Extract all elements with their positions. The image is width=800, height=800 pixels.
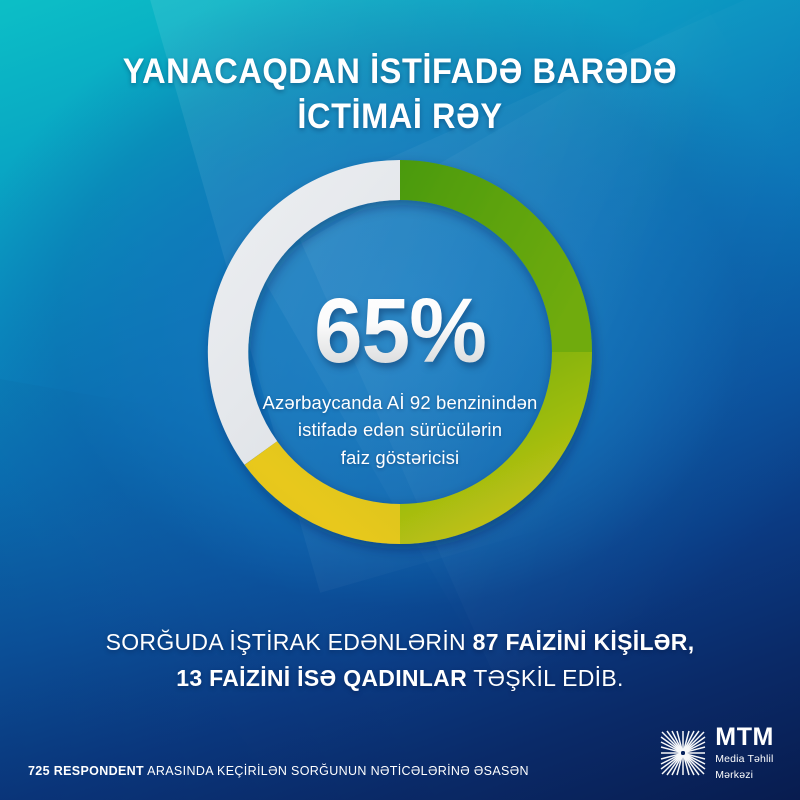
brand-acronym: MTM <box>715 725 774 750</box>
summary-statement-line-1: SORĞUDA İŞTİRAK EDƏNLƏRİN 87 FAİZİNİ KİŞ… <box>0 625 800 661</box>
page-title-line-1: YANACAQDAN İSTİFADƏ BARƏDƏ <box>28 50 772 95</box>
summary-suffix: TƏŞKİL EDİB. <box>467 665 624 691</box>
donut-caption-line-1: Azərbaycanda Aİ 92 benzinindən <box>230 389 570 416</box>
summary-men-percentage: 87 FAİZİNİ KİŞİLƏR, <box>473 629 695 655</box>
summary-statement-line-2: 13 FAİZİNİ İSƏ QADINLAR TƏŞKİL EDİB. <box>0 661 800 697</box>
page-title-line-2: İCTİMAİ RƏY <box>28 95 772 140</box>
source-note-text: ARASINDA KEÇİRİLƏN SORĞUNUN NƏTİCƏLƏRİNƏ… <box>144 764 529 778</box>
infographic-poster: YANACAQDAN İSTİFADƏ BARƏDƏ İCTİMAİ RƏY <box>0 0 800 800</box>
mtm-rays-icon <box>660 730 706 776</box>
source-note: 725 RESPONDENT ARASINDA KEÇİRİLƏN SORĞUN… <box>28 764 529 778</box>
donut-value: 65% <box>239 285 562 377</box>
donut-center-content: 65% Azərbaycanda Aİ 92 benzinindən istif… <box>230 285 570 471</box>
respondent-count: 725 RESPONDENT <box>28 764 144 778</box>
brand-subtitle-line-2: Mərkəzi <box>715 769 774 782</box>
page-title: YANACAQDAN İSTİFADƏ BARƏDƏ İCTİMAİ RƏY <box>28 50 772 140</box>
donut-caption-line-3: faiz göstəricisi <box>230 444 570 471</box>
summary-statement: SORĞUDA İŞTİRAK EDƏNLƏRİN 87 FAİZİNİ KİŞ… <box>0 625 800 696</box>
brand-logo-text: MTM Media Təhlil Mərkəzi <box>715 725 774 782</box>
donut-caption-line-2: istifadə edən sürücülərin <box>230 416 570 443</box>
brand-subtitle-line-1: Media Təhlil <box>715 753 774 766</box>
summary-prefix: SORĞUDA İŞTİRAK EDƏNLƏRİN <box>106 629 473 655</box>
summary-women-percentage: 13 FAİZİNİ İSƏ QADINLAR <box>176 665 467 691</box>
donut-caption: Azərbaycanda Aİ 92 benzinindən istifadə … <box>230 389 570 471</box>
brand-logo: MTM Media Təhlil Mərkəzi <box>660 725 774 782</box>
